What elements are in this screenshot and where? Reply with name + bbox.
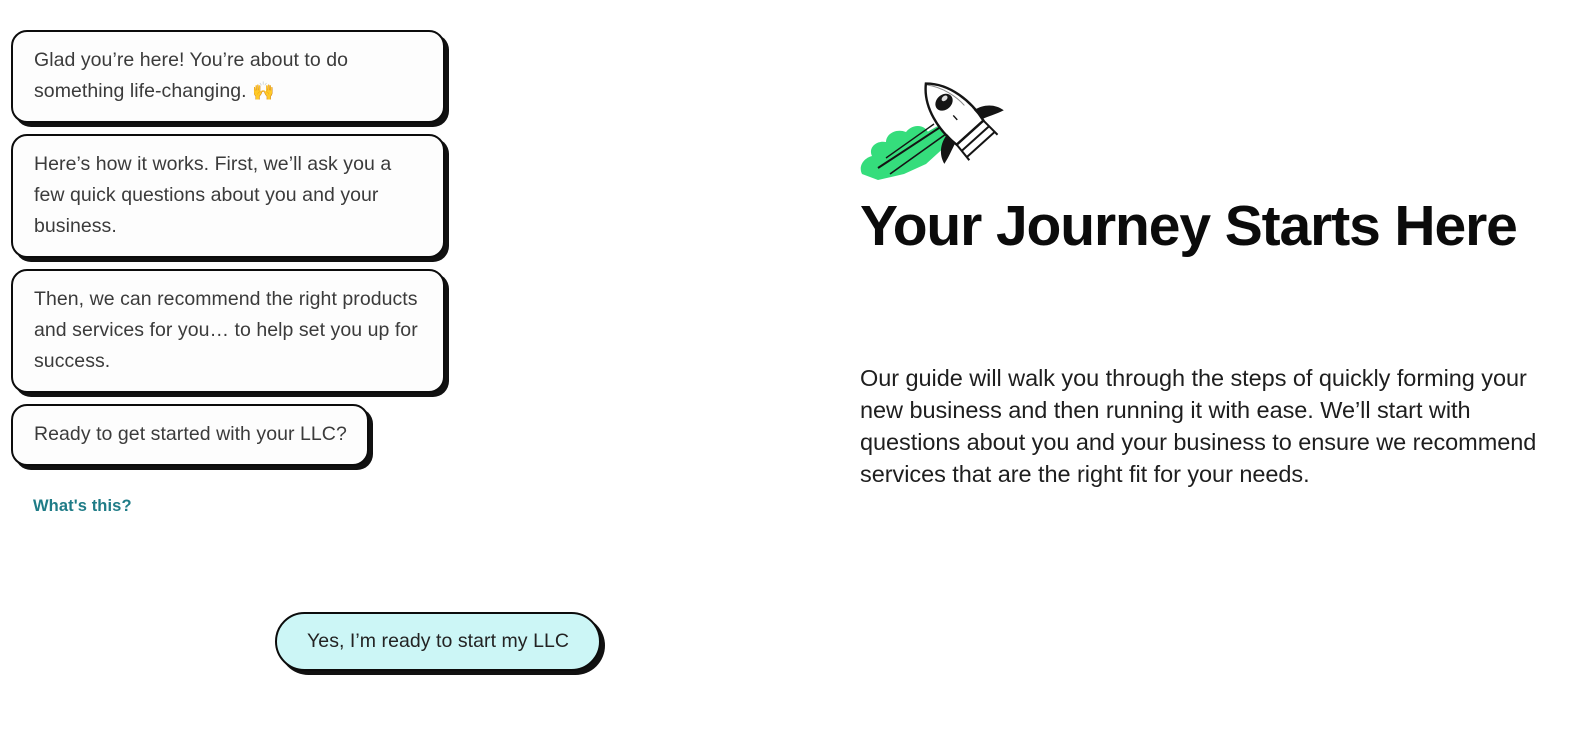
bot-message-bubble: Here’s how it works. First, we’ll ask yo…: [11, 134, 445, 258]
hero-title: Your Journey Starts Here: [860, 193, 1560, 260]
hero-body-text: Our guide will walk you through the step…: [860, 362, 1560, 490]
bot-message-bubble: Ready to get started with your LLC?: [11, 404, 369, 466]
raising-hands-emoji: 🙌: [247, 81, 275, 102]
bot-message-text: Here’s how it works. First, we’ll ask yo…: [34, 149, 423, 242]
user-reply-button[interactable]: Yes, I’m ready to start my LLC: [275, 612, 601, 671]
onboarding-page: Glad you’re here! You’re about to do som…: [0, 0, 1592, 732]
bot-message-bubble: Then, we can recommend the right product…: [11, 269, 445, 393]
bot-message-bubble: Glad you’re here! You’re about to do som…: [11, 30, 445, 123]
bot-message-text: Then, we can recommend the right product…: [34, 284, 423, 377]
chat-column: Glad you’re here! You’re about to do som…: [0, 0, 640, 732]
bot-message-list: Glad you’re here! You’re about to do som…: [11, 30, 481, 466]
user-reply-row: Yes, I’m ready to start my LLC: [0, 612, 612, 671]
bot-message-text: Glad you’re here! You’re about to do som…: [34, 45, 423, 107]
bot-message-text: Ready to get started with your LLC?: [34, 419, 347, 450]
hero-column: Your Journey Starts Here Our guide will …: [860, 0, 1570, 732]
whats-this-link[interactable]: What's this?: [33, 497, 132, 516]
rocket-icon: [856, 62, 1006, 180]
